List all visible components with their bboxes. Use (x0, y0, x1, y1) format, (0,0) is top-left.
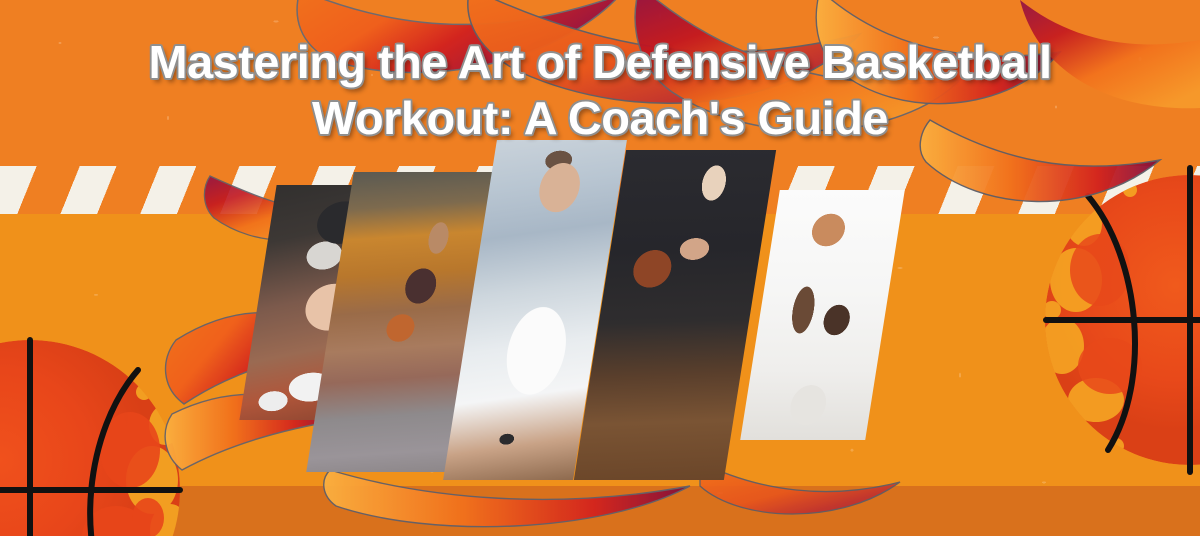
hero-banner: Mastering the Art of Defensive Basketbal… (0, 0, 1200, 536)
background-band-bottom (0, 486, 1200, 536)
